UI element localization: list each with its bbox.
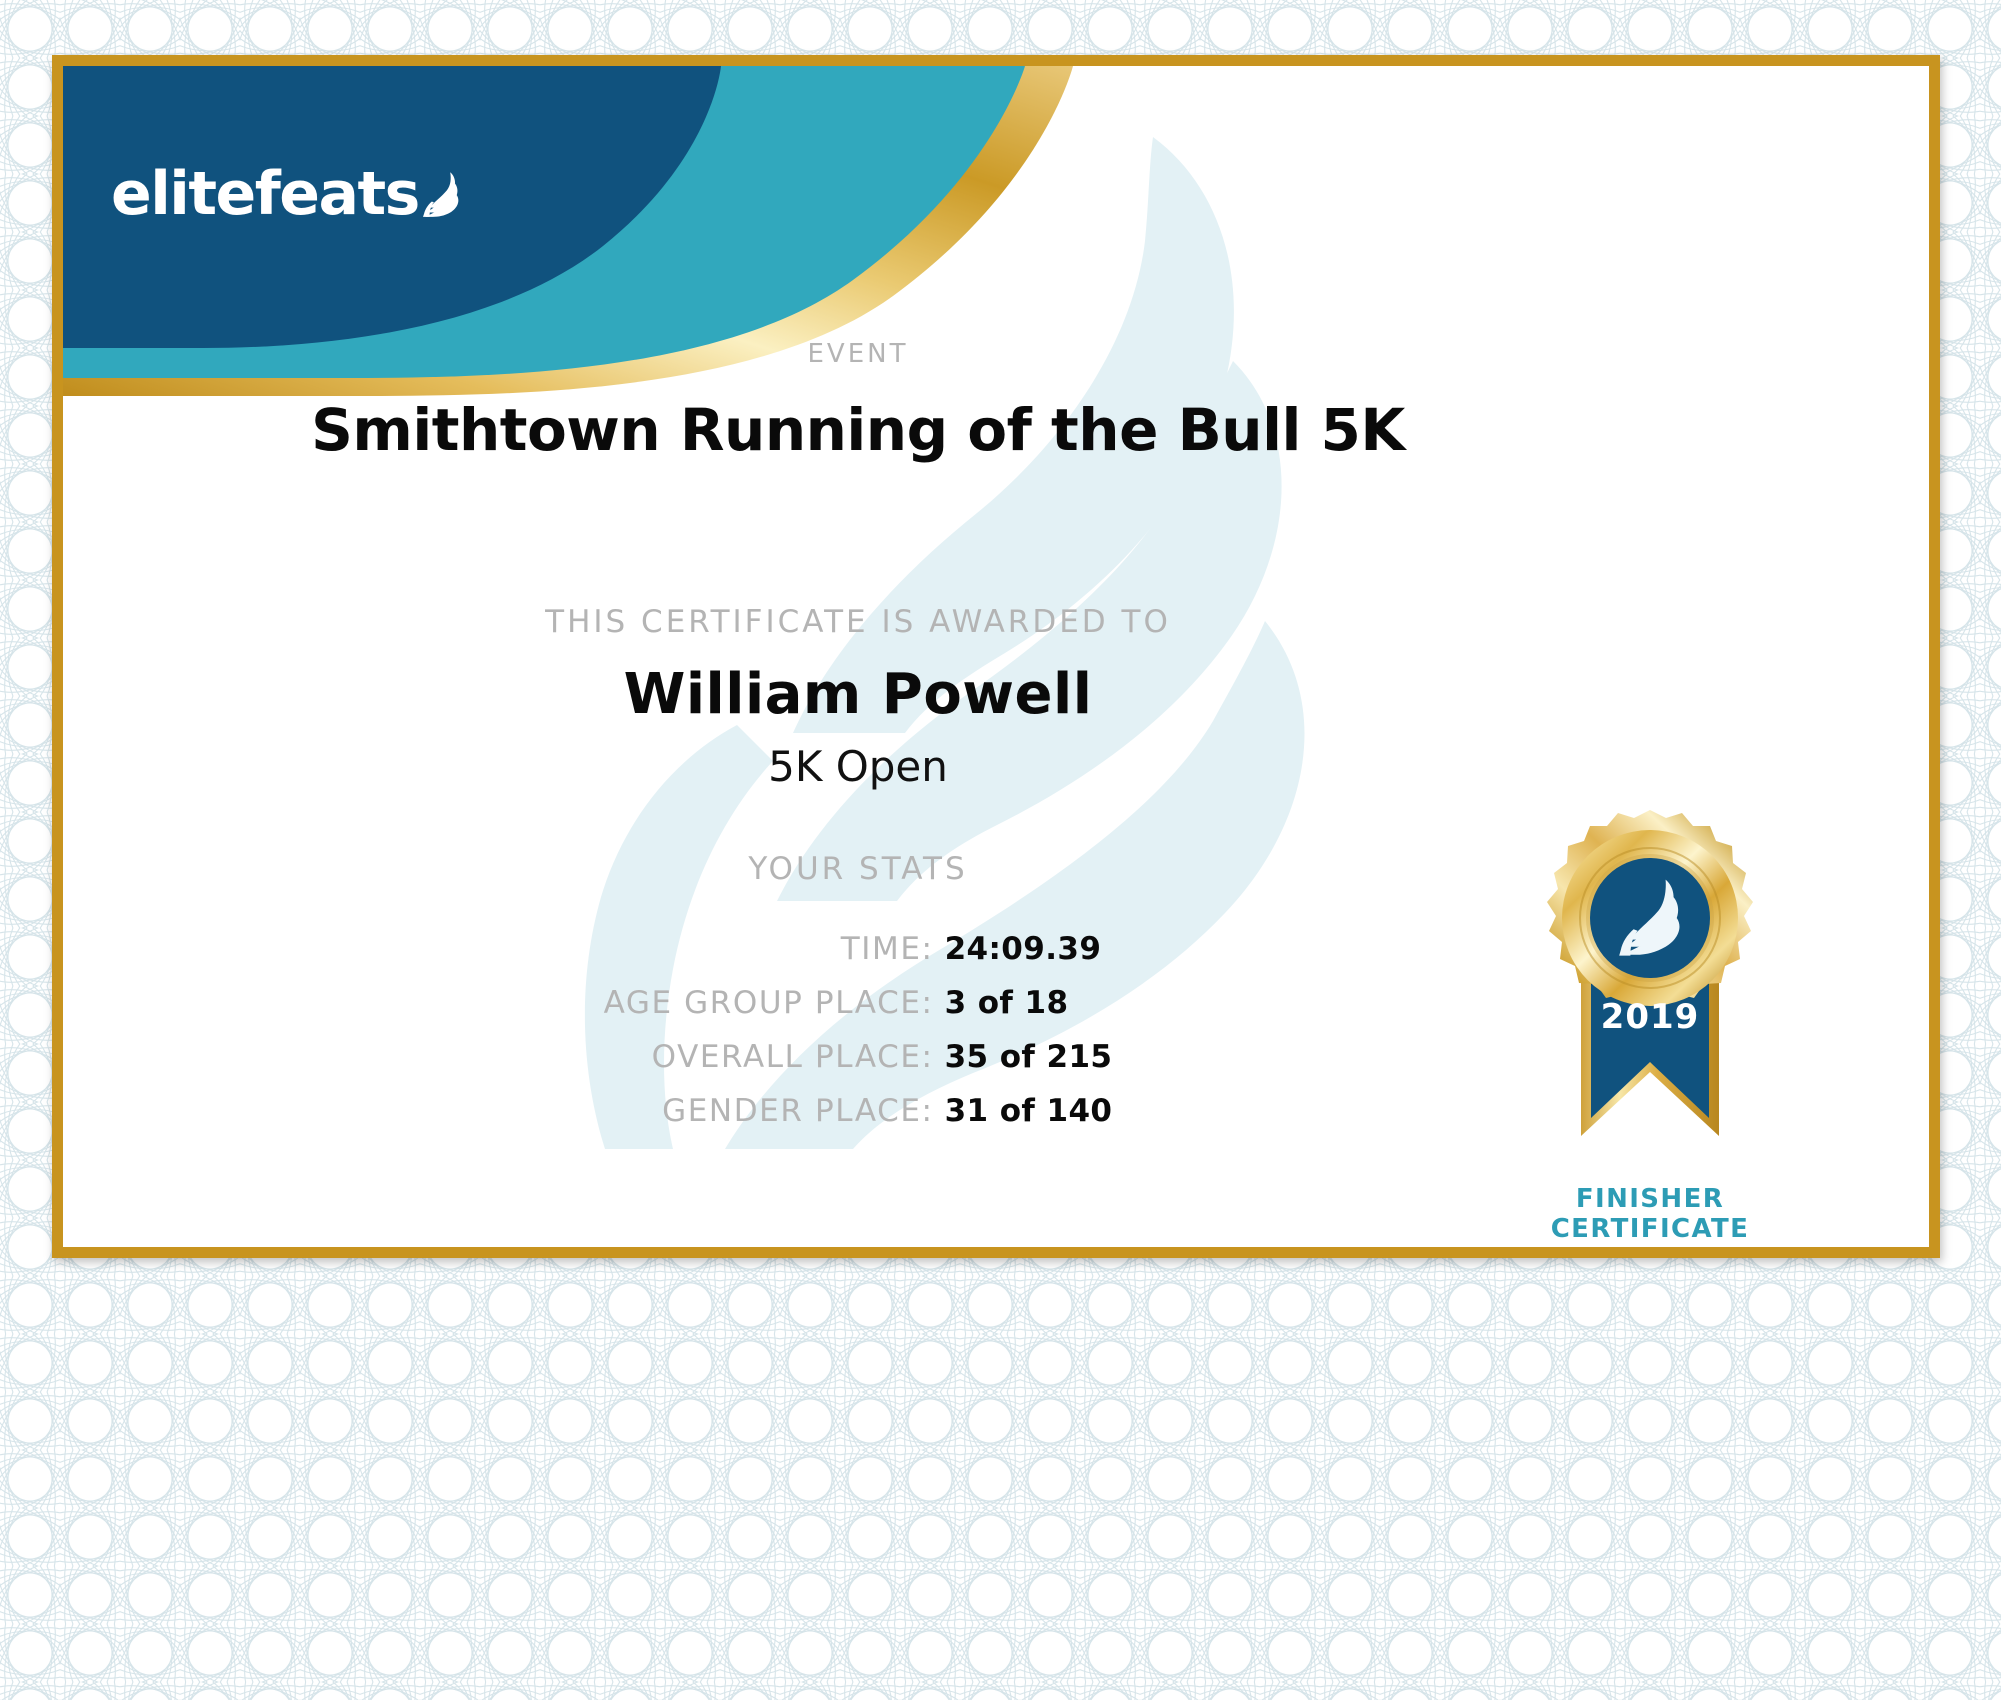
event-label: EVENT [63,339,1653,369]
stat-value-age-group-place: 3 of 18 [945,985,1113,1021]
recipient-name: William Powell [63,662,1653,727]
stat-key-overall-place: OVERALL PLACE: [604,1039,934,1075]
stat-row: OVERALL PLACE: 35 of 215 [63,1039,1653,1075]
recipient-division: 5K Open [63,742,1653,791]
finisher-medal-badge: 2019 FINISHER CERTIFICATE [1495,806,1805,1246]
stat-key-age-group-place: AGE GROUP PLACE: [604,985,934,1021]
certificate-frame: elitefeats EVENT Smithtown Running of th… [52,55,1940,1258]
event-name: Smithtown Running of the Bull 5K [63,396,1653,464]
stat-row: GENDER PLACE: 31 of 140 [63,1093,1653,1129]
brand-logo: elitefeats [111,144,461,244]
stat-value-time: 24:09.39 [945,931,1113,967]
stat-row: AGE GROUP PLACE: 3 of 18 [63,985,1653,1021]
certificate-page: elitefeats EVENT Smithtown Running of th… [0,0,2001,1700]
stat-row: TIME: 24:09.39 [63,931,1653,967]
stat-value-gender-place: 31 of 140 [945,1093,1113,1129]
badge-caption: FINISHER CERTIFICATE [1495,1184,1805,1244]
awarded-to-label: THIS CERTIFICATE IS AWARDED TO [63,604,1653,640]
stat-key-time: TIME: [604,931,934,967]
winged-foot-icon [423,158,461,230]
your-stats-label: YOUR STATS [63,851,1653,887]
badge-caption-line1: FINISHER [1495,1184,1805,1214]
medal-graphic: 2019 [1495,806,1805,1186]
stats-list: TIME: 24:09.39 AGE GROUP PLACE: 3 of 18 … [63,931,1653,1147]
stat-key-gender-place: GENDER PLACE: [604,1093,934,1129]
medal-disc [1546,810,1754,1022]
brand-name: elitefeats [111,164,419,224]
badge-caption-line2: CERTIFICATE [1495,1214,1805,1244]
badge-year: 2019 [1601,997,1700,1037]
stat-value-overall-place: 35 of 215 [945,1039,1113,1075]
